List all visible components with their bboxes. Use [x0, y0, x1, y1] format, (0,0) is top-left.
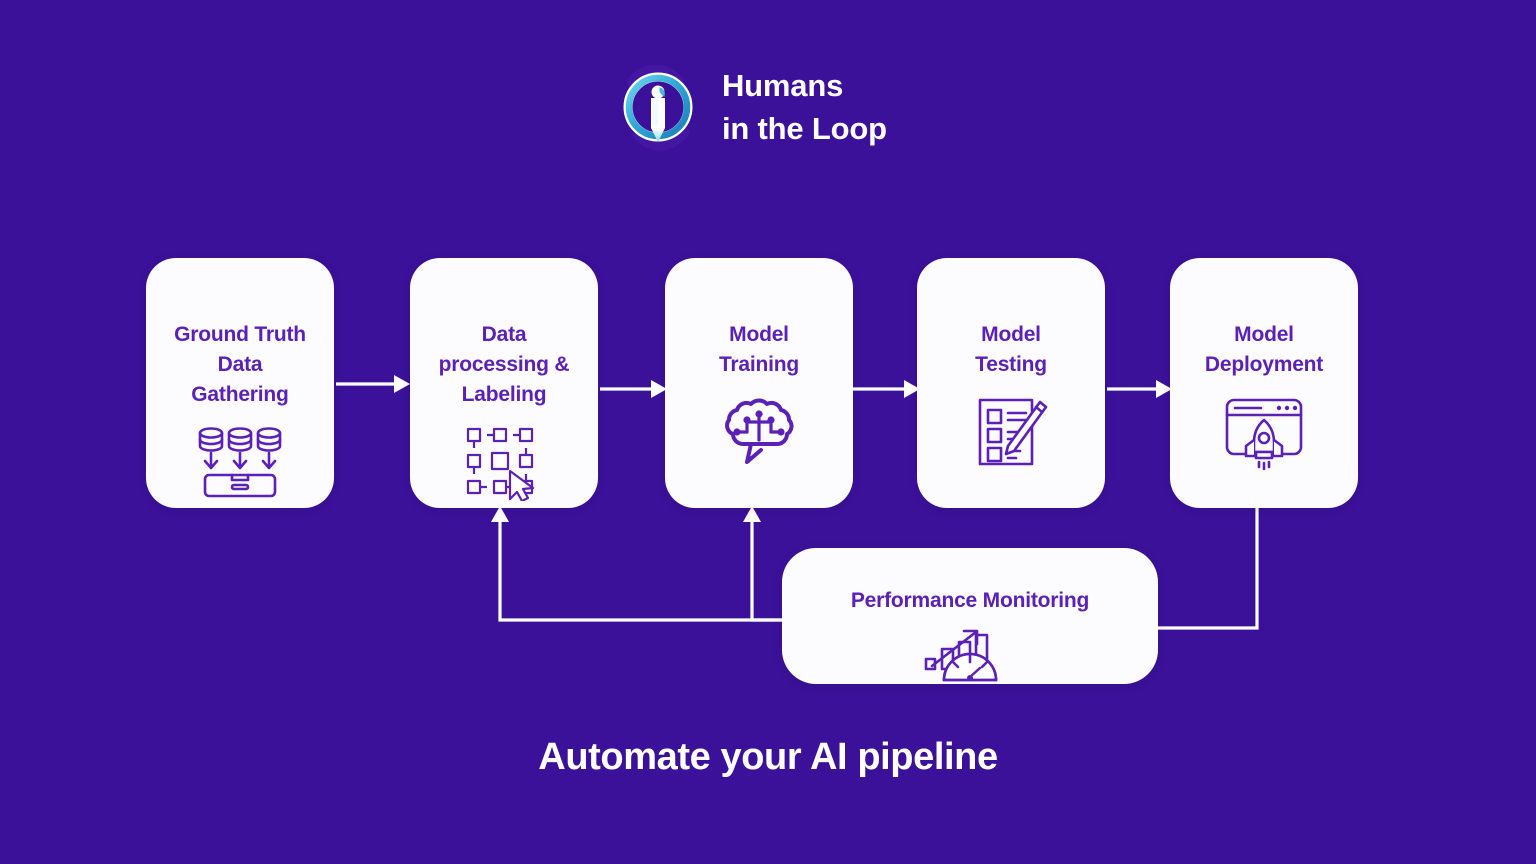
diagram-canvas: Humans in the Loop Grou [0, 0, 1536, 864]
edge-performance-monitoring-to-data-processing [500, 522, 790, 620]
stage-card-model-deployment-label: Model Deployment [1205, 320, 1323, 380]
footer-headline: Automate your AI pipeline [0, 736, 1536, 779]
stage-card-data-processing-label: Data processing & Labeling [439, 320, 570, 409]
stage-card-ground-truth[interactable]: Ground Truth Data Gathering [146, 258, 334, 508]
stage-card-performance-monitoring-label: Performance Monitoring [851, 586, 1089, 616]
brand-logo: Humans in the Loop [612, 62, 887, 154]
stage-card-data-processing[interactable]: Data processing & Labeling [410, 258, 598, 508]
stage-card-model-deployment[interactable]: Model Deployment [1170, 258, 1358, 508]
stage-card-model-training-label: Model Training [719, 320, 799, 380]
humans-in-the-loop-logo-icon [612, 62, 704, 154]
edge-model-deployment-to-performance-monitoring [1150, 508, 1257, 628]
bar-chart-gauge-icon [922, 622, 1018, 684]
stage-card-performance-monitoring[interactable]: Performance Monitoring [782, 548, 1158, 684]
checklist-pen-icon [970, 396, 1052, 468]
ai-brain-circuit-icon [713, 396, 805, 468]
database-stack-download-icon [194, 425, 286, 499]
stage-card-model-testing[interactable]: Model Testing [917, 258, 1105, 508]
brand-name: Humans in the Loop [722, 65, 887, 151]
browser-rocket-icon [1221, 396, 1307, 470]
stage-card-model-testing-label: Model Testing [975, 320, 1047, 380]
stage-card-model-training[interactable]: Model Training [665, 258, 853, 508]
stage-card-ground-truth-label: Ground Truth Data Gathering [174, 320, 306, 409]
bounding-box-cursor-icon [464, 425, 544, 501]
